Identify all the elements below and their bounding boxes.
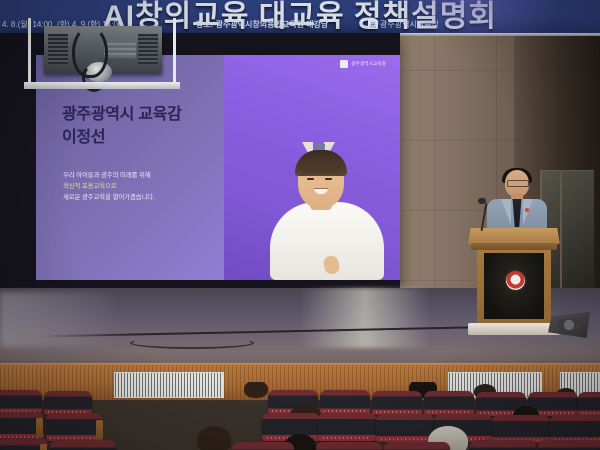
floor-light-reflection-left (0, 292, 120, 347)
audience-seating (0, 382, 600, 450)
seat (46, 413, 102, 441)
projector-vent-left (48, 34, 68, 64)
speaker-lapel-badge (525, 208, 529, 212)
seat (538, 440, 600, 450)
attendee-head (197, 426, 231, 450)
slide-title-line2: 이정선 (62, 126, 182, 149)
seat-armrest (36, 418, 43, 438)
slide-org-logo: 광주광역시교육청 (340, 60, 386, 68)
podium-base (468, 323, 560, 335)
seat (0, 390, 42, 414)
seat (376, 414, 434, 442)
microphone-icon (478, 198, 486, 204)
podium-body (477, 250, 551, 324)
speaker-lapel-left (501, 199, 511, 225)
seat (372, 391, 422, 415)
slide-title-line1: 광주광역시 교육감 (62, 103, 182, 126)
seat (424, 391, 474, 415)
seat (232, 442, 294, 450)
seat (44, 391, 92, 415)
speaker-person (487, 168, 547, 234)
seat (50, 440, 116, 450)
seat-armrest (40, 444, 47, 450)
photo-eye-right (325, 178, 332, 180)
speaker-glasses-icon (507, 180, 529, 187)
podium (468, 228, 560, 336)
seat (384, 442, 450, 450)
banner-org-text: 광주광역시교육청 (380, 19, 439, 30)
seat (550, 415, 600, 443)
banner-org-logo: 光 광주광역시교육청 (368, 19, 439, 30)
slide-logo-text: 광주광역시교육청 (351, 61, 386, 67)
seat (470, 440, 536, 450)
banner-location: 장소: 광주광역시창의융합교육원 대강당 (196, 19, 328, 30)
projector-vent-right (138, 34, 158, 64)
photo-eye-left (307, 178, 314, 180)
podium-emblem-icon (506, 271, 525, 290)
slide-sub-line2: 혁신적 포용교육으로 (63, 181, 155, 192)
seat (320, 390, 370, 414)
podium-top-edge (471, 243, 557, 250)
projector-shelf (24, 82, 180, 89)
photo-hair (295, 150, 347, 176)
slide-title: 광주광역시 교육감 이정선 (62, 103, 182, 149)
superintendent-photo (262, 138, 392, 280)
floor-cable-loop (130, 337, 254, 349)
attendee-head (244, 382, 268, 398)
speaker-lapel-right (523, 199, 533, 225)
slide-logo-icon (340, 60, 348, 68)
podium-front-panel (484, 253, 544, 319)
slide-subtitle: 우리 아이들과 광주의 미래를 위해 혁신적 포용교육으로 새로운 광주교육을 … (63, 170, 155, 203)
projector-control-panel (104, 40, 136, 58)
seat (318, 413, 376, 441)
screenshot-root: AI창의교육 대교육 정책설명회 4. 8.(월) 14:00, (화) 4. … (0, 0, 600, 450)
slide-sub-line1: 우리 아이들과 광주의 미래를 위해 (63, 170, 155, 181)
floor-light-reflection (300, 288, 430, 348)
seat (316, 442, 382, 450)
seat (578, 392, 600, 416)
slide-sub-line3: 새로운 광주교육을 열어가겠습니다. (63, 192, 155, 203)
org-logo-icon: 光 (368, 20, 378, 29)
seat (492, 415, 550, 443)
seat-armrest (96, 420, 103, 440)
